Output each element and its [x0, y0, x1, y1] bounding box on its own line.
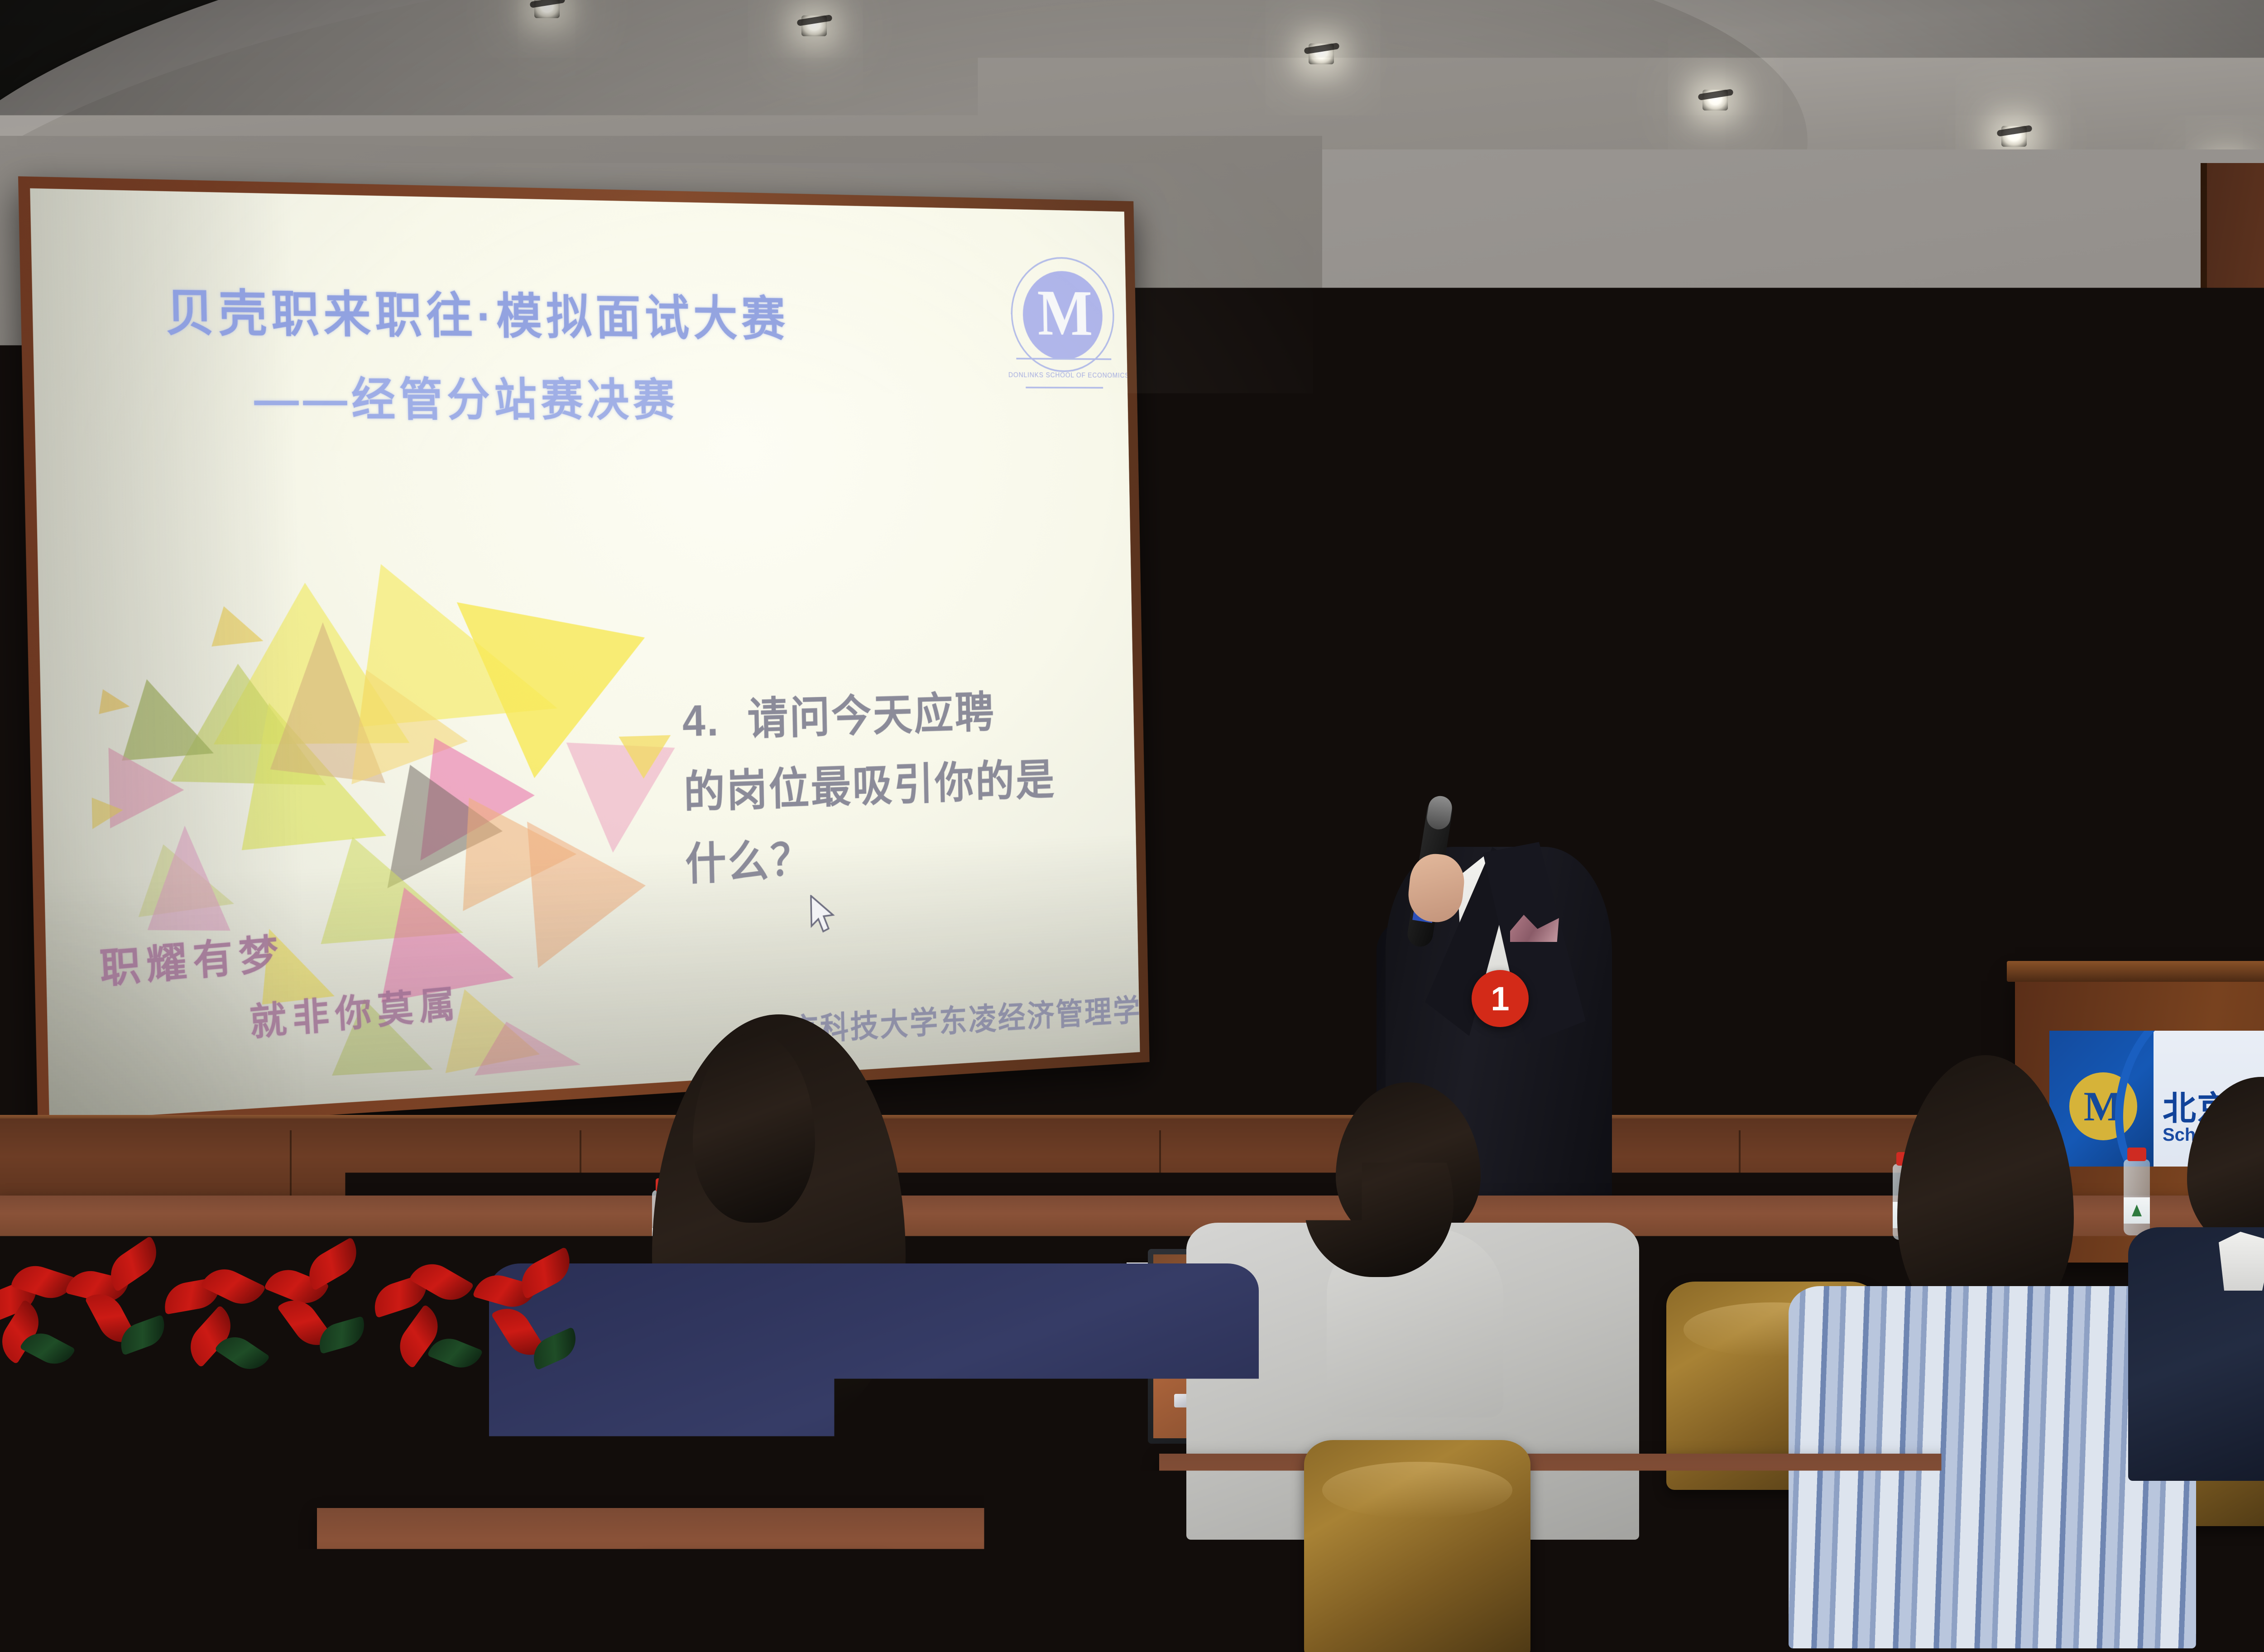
ceiling-spotlight-icon: [1703, 90, 1728, 110]
contestant-number-badge: 1: [1472, 970, 1529, 1027]
slide-title: 贝壳职来职往·模拟面试大赛: [165, 273, 976, 351]
seal-caption: DONLINKS SCHOOL OF ECONOMICS & MANAGEMEN…: [1008, 371, 1119, 379]
slide-question-text: 4.请问今天应聘 的岗位最吸引你的是 什么？: [681, 674, 1134, 901]
auditorium-chair[interactable]: [2101, 1426, 2264, 1652]
auditorium-chair[interactable]: [1304, 1440, 1530, 1652]
slide-title-block: 贝壳职来职往·模拟面试大赛 ——经管分站赛决赛: [165, 273, 978, 429]
question-line-1: 请问今天应聘: [747, 689, 996, 744]
audience-collar: [2219, 1232, 2264, 1291]
poinsettia-flower-row: [0, 1250, 616, 1467]
projection-screen-surface[interactable]: 贝壳职来职往·模拟面试大赛 ——经管分站赛决赛 M DONLINKS SCHOO…: [30, 188, 1140, 1121]
ceiling-spotlight-icon: [2001, 126, 2027, 147]
seal-glyph: M: [1028, 282, 1098, 345]
presentation-slide: 贝壳职来职往·模拟面试大赛 ——经管分站赛决赛 M DONLINKS SCHOO…: [30, 188, 1140, 1121]
question-number: 4.: [682, 696, 720, 746]
lecture-hall-scene: 贝壳职来职往·模拟面试大赛 ——经管分站赛决赛 M DONLINKS SCHOO…: [0, 0, 2264, 1652]
projection-screen-frame: 贝壳职来职往·模拟面试大赛 ——经管分站赛决赛 M DONLINKS SCHOO…: [18, 176, 1150, 1134]
school-seal-logo-icon: M DONLINKS SCHOOL OF ECONOMICS & MANAGEM…: [1006, 255, 1119, 391]
lectern-top-surface: [2007, 961, 2264, 982]
ceiling-spotlight-icon: [534, 0, 560, 18]
ceiling-spotlight-icon: [1309, 43, 1334, 64]
contestant-mouth: [1459, 803, 1485, 810]
auditorium-chair[interactable]: [1594, 1476, 1829, 1652]
ceiling-spotlight-icon: [801, 15, 827, 36]
eyeglasses-icon: [1434, 743, 1541, 773]
slide-subtitle: ——经管分站赛决赛: [253, 362, 978, 429]
laser-pointer-dot: [1803, 1013, 1810, 1021]
water-bottle-icon[interactable]: [2124, 1159, 2150, 1235]
host-lips: [2230, 833, 2251, 840]
auditorium-chair[interactable]: [625, 1553, 906, 1652]
